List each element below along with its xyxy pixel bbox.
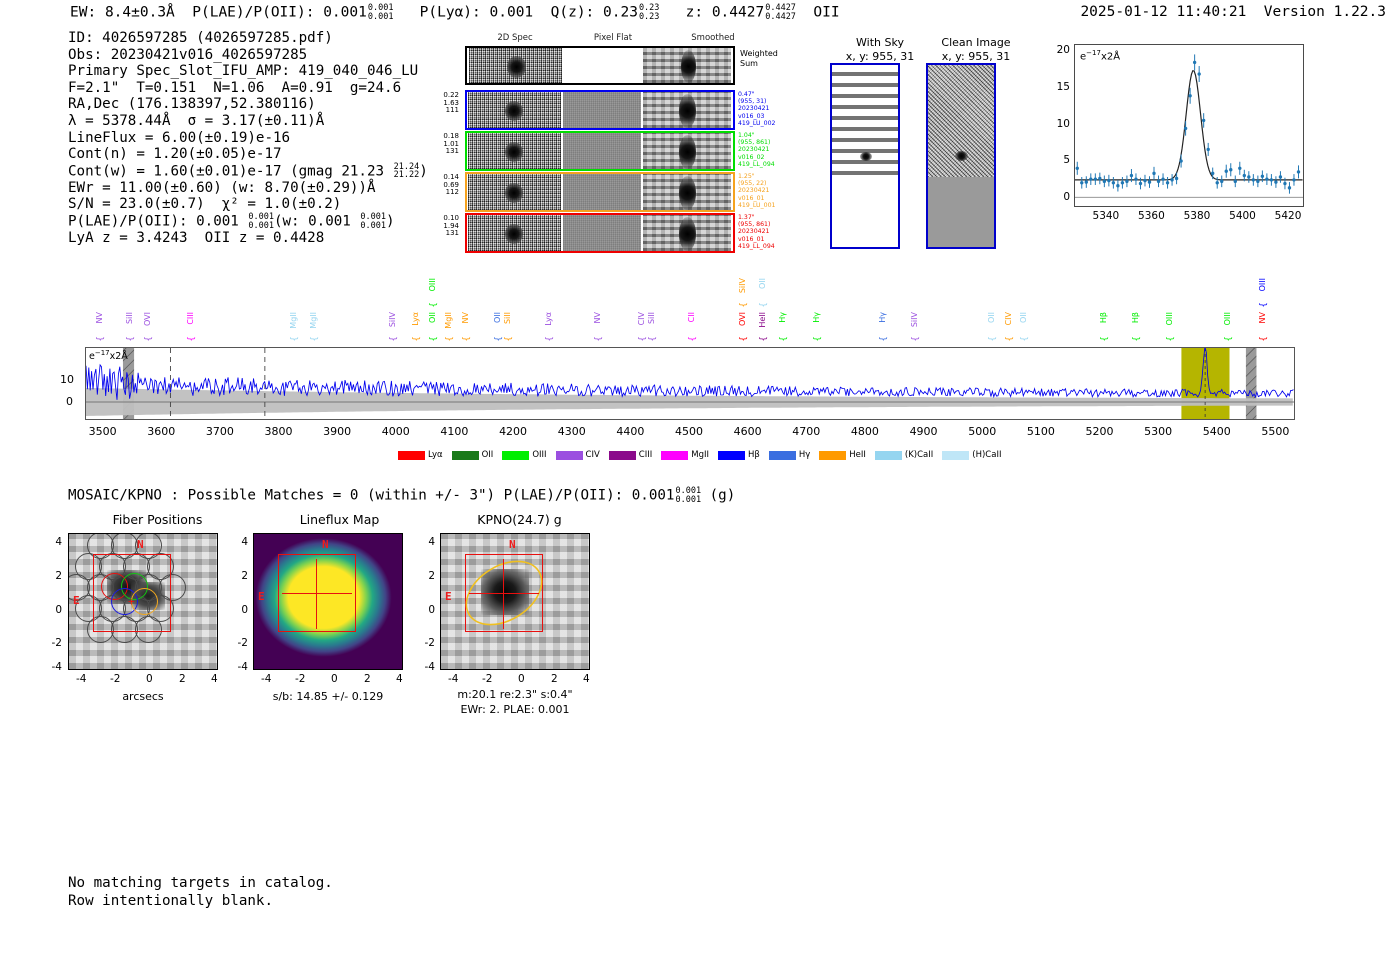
kpno-xlabel: m:20.1 re:2.3" s:0.4"	[430, 688, 600, 701]
kpno-ytick-m2: -2	[403, 637, 435, 649]
fiber-right-value: v016_01	[738, 236, 794, 243]
version-value: Version 1.22.3	[1264, 4, 1386, 20]
legend-item: OII	[452, 450, 494, 460]
lineflux-ytick-0: 0	[216, 604, 248, 616]
legend-label: (H)CaII	[972, 450, 1001, 460]
spectrum-line-brace: {	[429, 336, 439, 342]
fiber-right-value: 1.37"	[738, 214, 794, 221]
fiber-right-value: (955, 861)	[738, 221, 794, 228]
spectrum-xtick: 3900	[323, 425, 351, 438]
spectrum-line-label: NV	[462, 312, 470, 323]
mosaic-match-line: MOSAIC/KPNO : Possible Matches = 0 (with…	[68, 487, 735, 504]
spectrum-line-brace: {	[1100, 336, 1110, 342]
info-line-redshifts: LyA z = 3.4243 OII z = 0.4428	[68, 230, 428, 247]
legend-label: Hγ	[799, 450, 810, 460]
spectrum-xtick: 4400	[616, 425, 644, 438]
fiber-right-value: 1.25"	[738, 173, 794, 180]
spectrum-line-label: SiIV	[389, 312, 397, 327]
kpno-ytick-m4: -4	[403, 661, 435, 673]
spectrum-line-label: OIII	[1166, 312, 1174, 325]
legend-label: HeII	[849, 450, 866, 460]
legend-item: Hβ	[718, 450, 760, 460]
source-info-block: ID: 4026597285 (4026597285.pdf) Obs: 202…	[68, 30, 428, 247]
spectrum-xtick: 3500	[89, 425, 117, 438]
fiber-xlabel: arcsecs	[68, 690, 218, 703]
legend-swatch	[942, 451, 969, 460]
footer-line-2: Row intentionally blank.	[68, 892, 333, 910]
spectrum-line-brace: {	[988, 336, 998, 342]
plae-w-close: )	[386, 214, 395, 230]
fiber-left-values: 0.101.94131	[425, 215, 459, 238]
fiber-right-values: 1.25"(955, 22)20230421v016_01419_LU_001	[738, 173, 794, 209]
el-xtick: 5360	[1138, 210, 1165, 222]
fiber-strip-row	[465, 172, 735, 212]
spectrum-line-label: Lyα	[412, 312, 420, 326]
lineflux-xtick-0: 0	[331, 673, 338, 685]
footer-notes: No matching targets in catalog. Row inte…	[68, 874, 333, 910]
plae-text: P(LAE)/P(OII): 0.001	[68, 214, 247, 230]
gmag-lo: 21.22	[394, 171, 420, 180]
spectrum-line-brace: {	[412, 336, 422, 342]
spectrum-line-label: SiIV	[739, 278, 747, 293]
spectrum-xtick: 5100	[1027, 425, 1055, 438]
info-line-lambda: λ = 5378.44Å σ = 3.17(±0.11)Å	[68, 113, 428, 130]
spectrum-line-brace: {	[429, 302, 439, 308]
spectrum-xtick: 5300	[1144, 425, 1172, 438]
lineflux-xtick-m4: -4	[261, 673, 271, 685]
legend-item: OIII	[502, 450, 546, 460]
info-line-obs: Obs: 20230421v016_4026597285	[68, 47, 428, 64]
legend-swatch	[875, 451, 902, 460]
spectrum-line-label: NV	[1259, 312, 1267, 323]
fiber-xtick-0: 0	[146, 673, 153, 685]
info-line-radec: RA,Dec (176.138397,52.380116)	[68, 96, 428, 113]
legend-item: Hγ	[769, 450, 810, 460]
spectrum-line-label: SiII	[504, 312, 512, 324]
fiber-right-value: 419_LL_094	[738, 161, 794, 168]
spectrum-line-brace: {	[1005, 336, 1015, 342]
spectrum-legend: LyαOIIOIIICIVCIIIMgIIHβHγHeII(K)CaII(H)C…	[398, 450, 1001, 460]
fiber-positions-title: Fiber Positions	[60, 512, 255, 527]
plya-label: P(Lyα):	[420, 5, 481, 21]
lineflux-xtick-m2: -2	[295, 673, 305, 685]
full-spectrum-plot-area: e−17x2Å	[85, 347, 1295, 420]
legend-label: OII	[482, 450, 494, 460]
info-line-cont-n: Cont(n) = 1.20(±0.05)e-17	[68, 146, 428, 163]
spectrum-line-label: HeII	[759, 312, 767, 328]
spectrum-line-brace: {	[879, 336, 889, 342]
kpno-compass-n: N	[509, 538, 516, 551]
fiber-compass-n: N	[137, 538, 144, 551]
el-xtick: 5400	[1229, 210, 1256, 222]
spectrum-xtick: 3600	[147, 425, 175, 438]
legend-label: MgII	[691, 450, 709, 460]
el-xtick: 5380	[1184, 210, 1211, 222]
lineflux-map-image: N E	[253, 533, 403, 670]
spectrum-line-brace: {	[126, 336, 136, 342]
el-ytick: 10	[1048, 118, 1070, 130]
fiber-right-value: 419_LL_094	[738, 243, 794, 250]
spectrum-xtick: 4500	[675, 425, 703, 438]
lineflux-ytick-m4: -4	[216, 661, 248, 673]
spectrum-xtick: 4100	[440, 425, 468, 438]
fiber-compass-e: E	[73, 594, 80, 607]
qz-label: Q(z):	[551, 5, 595, 21]
spectrum-line-label: OIII	[429, 278, 437, 291]
spectrum-line-brace: {	[290, 336, 300, 342]
twod-spectra-panel-group: 2D Spec Pixel Flat Smoothed Weighted Sum…	[430, 33, 780, 258]
legend-swatch	[819, 451, 846, 460]
spectrum-line-label: SiII	[126, 312, 134, 324]
spectrum-line-label: OIII	[1259, 278, 1267, 291]
weighted-sum-strip	[465, 46, 735, 85]
spectrum-line-label: Hγ	[879, 312, 887, 323]
fiber-ytick-0: 0	[30, 604, 62, 616]
spectrum-line-brace: {	[504, 336, 514, 342]
spectrum-line-label: NV	[96, 312, 104, 323]
legend-label: CIV	[586, 450, 600, 460]
spectrum-line-label: OII	[1020, 312, 1028, 323]
fiber-right-values: 1.04"(955, 861)20230421v016_02419_LL_094	[738, 132, 794, 168]
spectrum-line-label: CIV	[638, 312, 646, 325]
spectrum-line-brace: {	[462, 336, 472, 342]
with-sky-image	[830, 63, 900, 249]
spectrum-xtick: 5400	[1203, 425, 1231, 438]
legend-item: (K)CaII	[875, 450, 933, 460]
mosaic-filter-suffix: (g)	[710, 488, 736, 504]
spectrum-line-brace: {	[494, 336, 504, 342]
panel-title-smoothed: Smoothed	[668, 33, 758, 43]
fiber-right-value: v016_03	[738, 113, 794, 120]
spectrum-line-brace: {	[911, 336, 921, 342]
el-ytick: 15	[1048, 81, 1070, 93]
legend-swatch	[769, 451, 796, 460]
fiber-right-value: v016_02	[738, 154, 794, 161]
legend-swatch	[452, 451, 479, 460]
fiber-left-values: 0.140.69112	[425, 174, 459, 197]
qz-lo: 0.23	[639, 13, 659, 22]
lineflux-xtick-2: 2	[364, 673, 371, 685]
spectrum-line-brace: {	[594, 336, 604, 342]
spectrum-xtick: 4600	[734, 425, 762, 438]
kpno-xtick-4: 4	[583, 673, 590, 685]
fiber-strip-row	[465, 213, 735, 253]
spectrum-line-brace: {	[310, 336, 320, 342]
fiber-left-value: 111	[425, 107, 459, 115]
timestamp-value: 2025-01-12 11:40:21	[1080, 4, 1246, 20]
fiber-right-value: (955, 861)	[738, 139, 794, 146]
kpno-cross-v	[503, 559, 504, 629]
legend-label: Hβ	[748, 450, 760, 460]
fiber-right-values: 0.47"(955, 31)20230421v016_03419_LU_002	[738, 91, 794, 127]
spectrum-line-brace: {	[144, 336, 154, 342]
spectrum-line-brace: {	[1166, 336, 1176, 342]
spectrum-line-label: OII	[494, 312, 502, 323]
legend-label: CIII	[639, 450, 652, 460]
spectrum-xtick: 4000	[382, 425, 410, 438]
cont-w-text: Cont(w) = 1.60(±0.01)e-17 (gmag 21.23	[68, 163, 393, 179]
clean-image-view	[926, 63, 996, 249]
weighted-sum-line2: Sum	[740, 59, 778, 69]
spectrum-line-label: CIII	[187, 312, 195, 325]
spectrum-line-label: Hγ	[813, 312, 821, 323]
spectrum-line-label: OIII	[1224, 312, 1232, 325]
full-spectrum-chart: NV{SiII{OVI{CIII{MgII{MgII{SiIV{Lyα{OII{…	[0, 270, 1400, 470]
legend-item: (H)CaII	[942, 450, 1001, 460]
lineflux-ytick-m2: -2	[216, 637, 248, 649]
spectrum-line-brace: {	[187, 336, 197, 342]
plae-w-text: (w: 0.001	[274, 214, 359, 230]
legend-swatch	[718, 451, 745, 460]
fiber-xtick-m2: -2	[110, 673, 120, 685]
spectrum-xtick: 3800	[265, 425, 293, 438]
spectrum-line-brace: {	[389, 336, 399, 342]
fiber-ytick-m4: -4	[30, 661, 62, 673]
legend-item: HeII	[819, 450, 866, 460]
legend-swatch	[398, 451, 425, 460]
spectrum-xtick: 3700	[206, 425, 234, 438]
fiber-right-value: (955, 31)	[738, 98, 794, 105]
fiber-ytick-m2: -2	[30, 637, 62, 649]
info-line-ewr: EWr = 11.00(±0.60) (w: 8.70(±0.29))Å	[68, 180, 428, 197]
spectrum-line-label: Hγ	[779, 312, 787, 323]
spectrum-line-brace: {	[1259, 336, 1269, 342]
spectrum-line-label: Lyα	[545, 312, 553, 326]
spectrum-line-label: OVI	[739, 312, 747, 326]
el-xtick: 5420	[1275, 210, 1302, 222]
z-label: z:	[686, 5, 703, 21]
kpno-xtick-m4: -4	[448, 673, 458, 685]
spectrum-line-label: OII	[988, 312, 996, 323]
full-spectrum-ytick-0: 0	[66, 395, 73, 408]
spectrum-xtick: 5200	[1085, 425, 1113, 438]
spectrum-xtick: 4300	[558, 425, 586, 438]
spectrum-line-brace: {	[638, 336, 648, 342]
lineflux-ytick-4: 4	[216, 536, 248, 548]
el-ytick: 5	[1048, 154, 1070, 166]
kpno-ytick-2: 2	[403, 570, 435, 582]
ew-value: 8.4±0.3Å	[105, 5, 175, 21]
spectrum-line-label: Hβ	[1132, 312, 1140, 323]
fiber-ytick-4: 4	[30, 536, 62, 548]
panel-title-pixelflat: Pixel Flat	[568, 33, 658, 43]
full-spectrum-ytick-10: 10	[60, 373, 74, 386]
fiber-xtick-4: 4	[211, 673, 218, 685]
clean-image-title: Clean Image	[916, 36, 1036, 49]
spectrum-line-label: OII	[759, 278, 767, 289]
kpno-ellipse-overlay	[441, 534, 590, 670]
fiber-center-cross: +	[128, 598, 135, 606]
legend-swatch	[661, 451, 688, 460]
z-type: OII	[813, 5, 839, 21]
info-line-snr: S/N = 23.0(±0.7) χ² = 1.0(±0.2)	[68, 196, 428, 213]
fiber-marked-orange	[131, 588, 158, 615]
emission-line-svg	[1075, 45, 1303, 206]
fiber-strip-row	[465, 90, 735, 130]
spectrum-xtick: 5500	[1261, 425, 1289, 438]
legend-swatch	[556, 451, 583, 460]
info-line-plae: P(LAE)/P(OII): 0.001 0.0010.001(w: 0.001…	[68, 213, 428, 230]
kpno-xtick-m2: -2	[482, 673, 492, 685]
fiber-left-value: 131	[425, 230, 459, 238]
fiber-right-value: 20230421	[738, 228, 794, 235]
header-summary-line: EW: 8.4±0.3Å P(LAE)/P(OII): 0.0010.0010.…	[70, 4, 840, 21]
fiber-right-value: 20230421	[738, 105, 794, 112]
spectrum-line-label: CIV	[1005, 312, 1013, 325]
kpno-title: KPNO(24.7) g	[422, 512, 617, 527]
fiber-right-value: 1.04"	[738, 132, 794, 139]
fiber-xtick-2: 2	[179, 673, 186, 685]
spectrum-line-label: SiII	[648, 312, 656, 324]
fiber-left-value: 131	[425, 148, 459, 156]
spectrum-line-label: MgII	[445, 312, 453, 329]
clean-image-subtitle: x, y: 955, 31	[916, 50, 1036, 63]
flux-unit-annotation: e−17x2Å	[1080, 49, 1120, 62]
info-line-fwhm: F=2.1" T=0.151 N=1.06 A=0.91 g=24.6	[68, 80, 428, 97]
spectrum-line-label: OVI	[144, 312, 152, 326]
fiber-right-value: (955, 22)	[738, 180, 794, 187]
spectrum-line-label: MgII	[310, 312, 318, 329]
spectrum-xtick: 4900	[910, 425, 938, 438]
spectrum-line-brace: {	[739, 336, 749, 342]
fiber-right-value: 419_LU_002	[738, 120, 794, 127]
fiber-right-value: 20230421	[738, 187, 794, 194]
spectrum-line-label: OII	[429, 312, 437, 323]
footer-line-1: No matching targets in catalog.	[68, 874, 333, 892]
emission-line-zoom-chart: e−17x2Å 05101520 53405360538054005420	[1034, 38, 1306, 243]
kpno-ytick-0: 0	[403, 604, 435, 616]
plya-value: 0.001	[490, 5, 534, 21]
legend-label: OIII	[532, 450, 546, 460]
info-line-lineflux: LineFlux = 6.00(±0.19)e-16	[68, 130, 428, 147]
fiber-right-values: 1.37"(955, 861)20230421v016_01419_LL_094	[738, 214, 794, 250]
lineflux-ytick-2: 2	[216, 570, 248, 582]
fiber-left-values: 0.221.63111	[425, 92, 459, 115]
z-value: 0.4427	[712, 5, 764, 21]
fiber-positions-image: + N E	[68, 533, 218, 670]
spectrum-line-label: SiIV	[911, 312, 919, 327]
plae-poii-lo: 0.001	[368, 13, 394, 22]
fiber-strip-row	[465, 131, 735, 171]
fiber-xtick-m4: -4	[76, 673, 86, 685]
lineflux-cross-v	[316, 559, 317, 629]
spectrum-line-label: Hβ	[1100, 312, 1108, 323]
spectrum-line-brace: {	[545, 336, 555, 342]
legend-item: Lyα	[398, 450, 443, 460]
qz-value: 0.23	[603, 5, 638, 21]
emission-line-plot-area: e−17x2Å	[1074, 44, 1304, 207]
plae-lo: 0.001	[248, 222, 274, 231]
spectrum-line-label: MgII	[290, 312, 298, 329]
el-ytick: 20	[1048, 44, 1070, 56]
full-spectrum-svg	[86, 348, 1294, 419]
legend-item: MgII	[661, 450, 709, 460]
spectrum-line-brace: {	[1259, 302, 1269, 308]
lineflux-compass-n: N	[322, 538, 329, 551]
kpno-image: N E	[440, 533, 590, 670]
spectrum-xtick: 4700	[792, 425, 820, 438]
full-spectrum-unit-annotation: e−17x2Å	[89, 349, 128, 362]
fiber-ytick-2: 2	[30, 570, 62, 582]
spectrum-line-brace: {	[739, 302, 749, 308]
legend-swatch	[609, 451, 636, 460]
spectrum-line-brace: {	[1132, 336, 1142, 342]
legend-swatch	[502, 451, 529, 460]
spectrum-xtick: 4200	[499, 425, 527, 438]
legend-item: CIII	[609, 450, 652, 460]
fiber-left-values: 0.181.01131	[425, 133, 459, 156]
legend-label: (K)CaII	[905, 450, 933, 460]
plae-w-lo: 0.001	[360, 222, 386, 231]
info-line-cont-w: Cont(w) = 1.60(±0.01)e-17 (gmag 21.23 21…	[68, 163, 428, 180]
plae-poii-value: 0.001	[323, 5, 367, 21]
info-line-id: ID: 4026597285 (4026597285.pdf)	[68, 30, 428, 47]
fiber-right-value: 0.47"	[738, 91, 794, 98]
legend-item: CIV	[556, 450, 600, 460]
info-line-primary-spec: Primary Spec_Slot_IFU_AMP: 419_040_046_L…	[68, 63, 428, 80]
ew-label: EW:	[70, 5, 96, 21]
spectrum-line-brace: {	[96, 336, 106, 342]
el-xtick: 5340	[1093, 210, 1120, 222]
spectrum-line-brace: {	[759, 336, 769, 342]
fiber-right-value: 20230421	[738, 146, 794, 153]
plae-poii-label: P(LAE)/P(OII):	[192, 5, 314, 21]
spectrum-line-label: NV	[594, 312, 602, 323]
fiber-right-value: 419_LU_001	[738, 202, 794, 209]
lineflux-compass-e: E	[258, 590, 265, 603]
lineflux-xlabel: s/b: 14.85 +/- 0.129	[253, 690, 403, 703]
kpno-xtick-0: 0	[518, 673, 525, 685]
lineflux-map-title: Lineflux Map	[242, 512, 437, 527]
kpno-compass-e: E	[445, 590, 452, 603]
panel-title-2dspec: 2D Spec	[470, 33, 560, 43]
lineflux-xtick-4: 4	[396, 673, 403, 685]
spectrum-line-brace: {	[445, 336, 455, 342]
fiber-right-value: v016_01	[738, 195, 794, 202]
weighted-sum-label: Weighted Sum	[740, 49, 778, 69]
spectrum-line-label: CII	[688, 312, 696, 322]
kpno-caption2: EWr: 2. PLAE: 0.001	[430, 703, 600, 716]
fiber-left-value: 112	[425, 189, 459, 197]
timestamp-version: 2025-01-12 11:40:21 Version 1.22.3	[1080, 4, 1386, 20]
mosaic-line-text: MOSAIC/KPNO : Possible Matches = 0 (with…	[68, 488, 674, 504]
spectrum-line-brace: {	[648, 336, 658, 342]
spectrum-line-brace: {	[779, 336, 789, 342]
spectrum-line-brace: {	[759, 302, 769, 308]
spectrum-line-brace: {	[688, 336, 698, 342]
spectrum-line-brace: {	[813, 336, 823, 342]
mosaic-plae-lo: 0.001	[675, 496, 701, 505]
spectrum-line-brace: {	[1224, 336, 1234, 342]
kpno-ytick-4: 4	[403, 536, 435, 548]
z-lo: 0.4427	[765, 13, 796, 22]
spectrum-line-brace: {	[1020, 336, 1030, 342]
weighted-sum-line1: Weighted	[740, 49, 778, 59]
kpno-xtick-2: 2	[551, 673, 558, 685]
legend-label: Lyα	[428, 450, 443, 460]
spectrum-xtick: 4800	[851, 425, 879, 438]
el-ytick: 0	[1048, 191, 1070, 203]
spectrum-xtick: 5000	[968, 425, 996, 438]
